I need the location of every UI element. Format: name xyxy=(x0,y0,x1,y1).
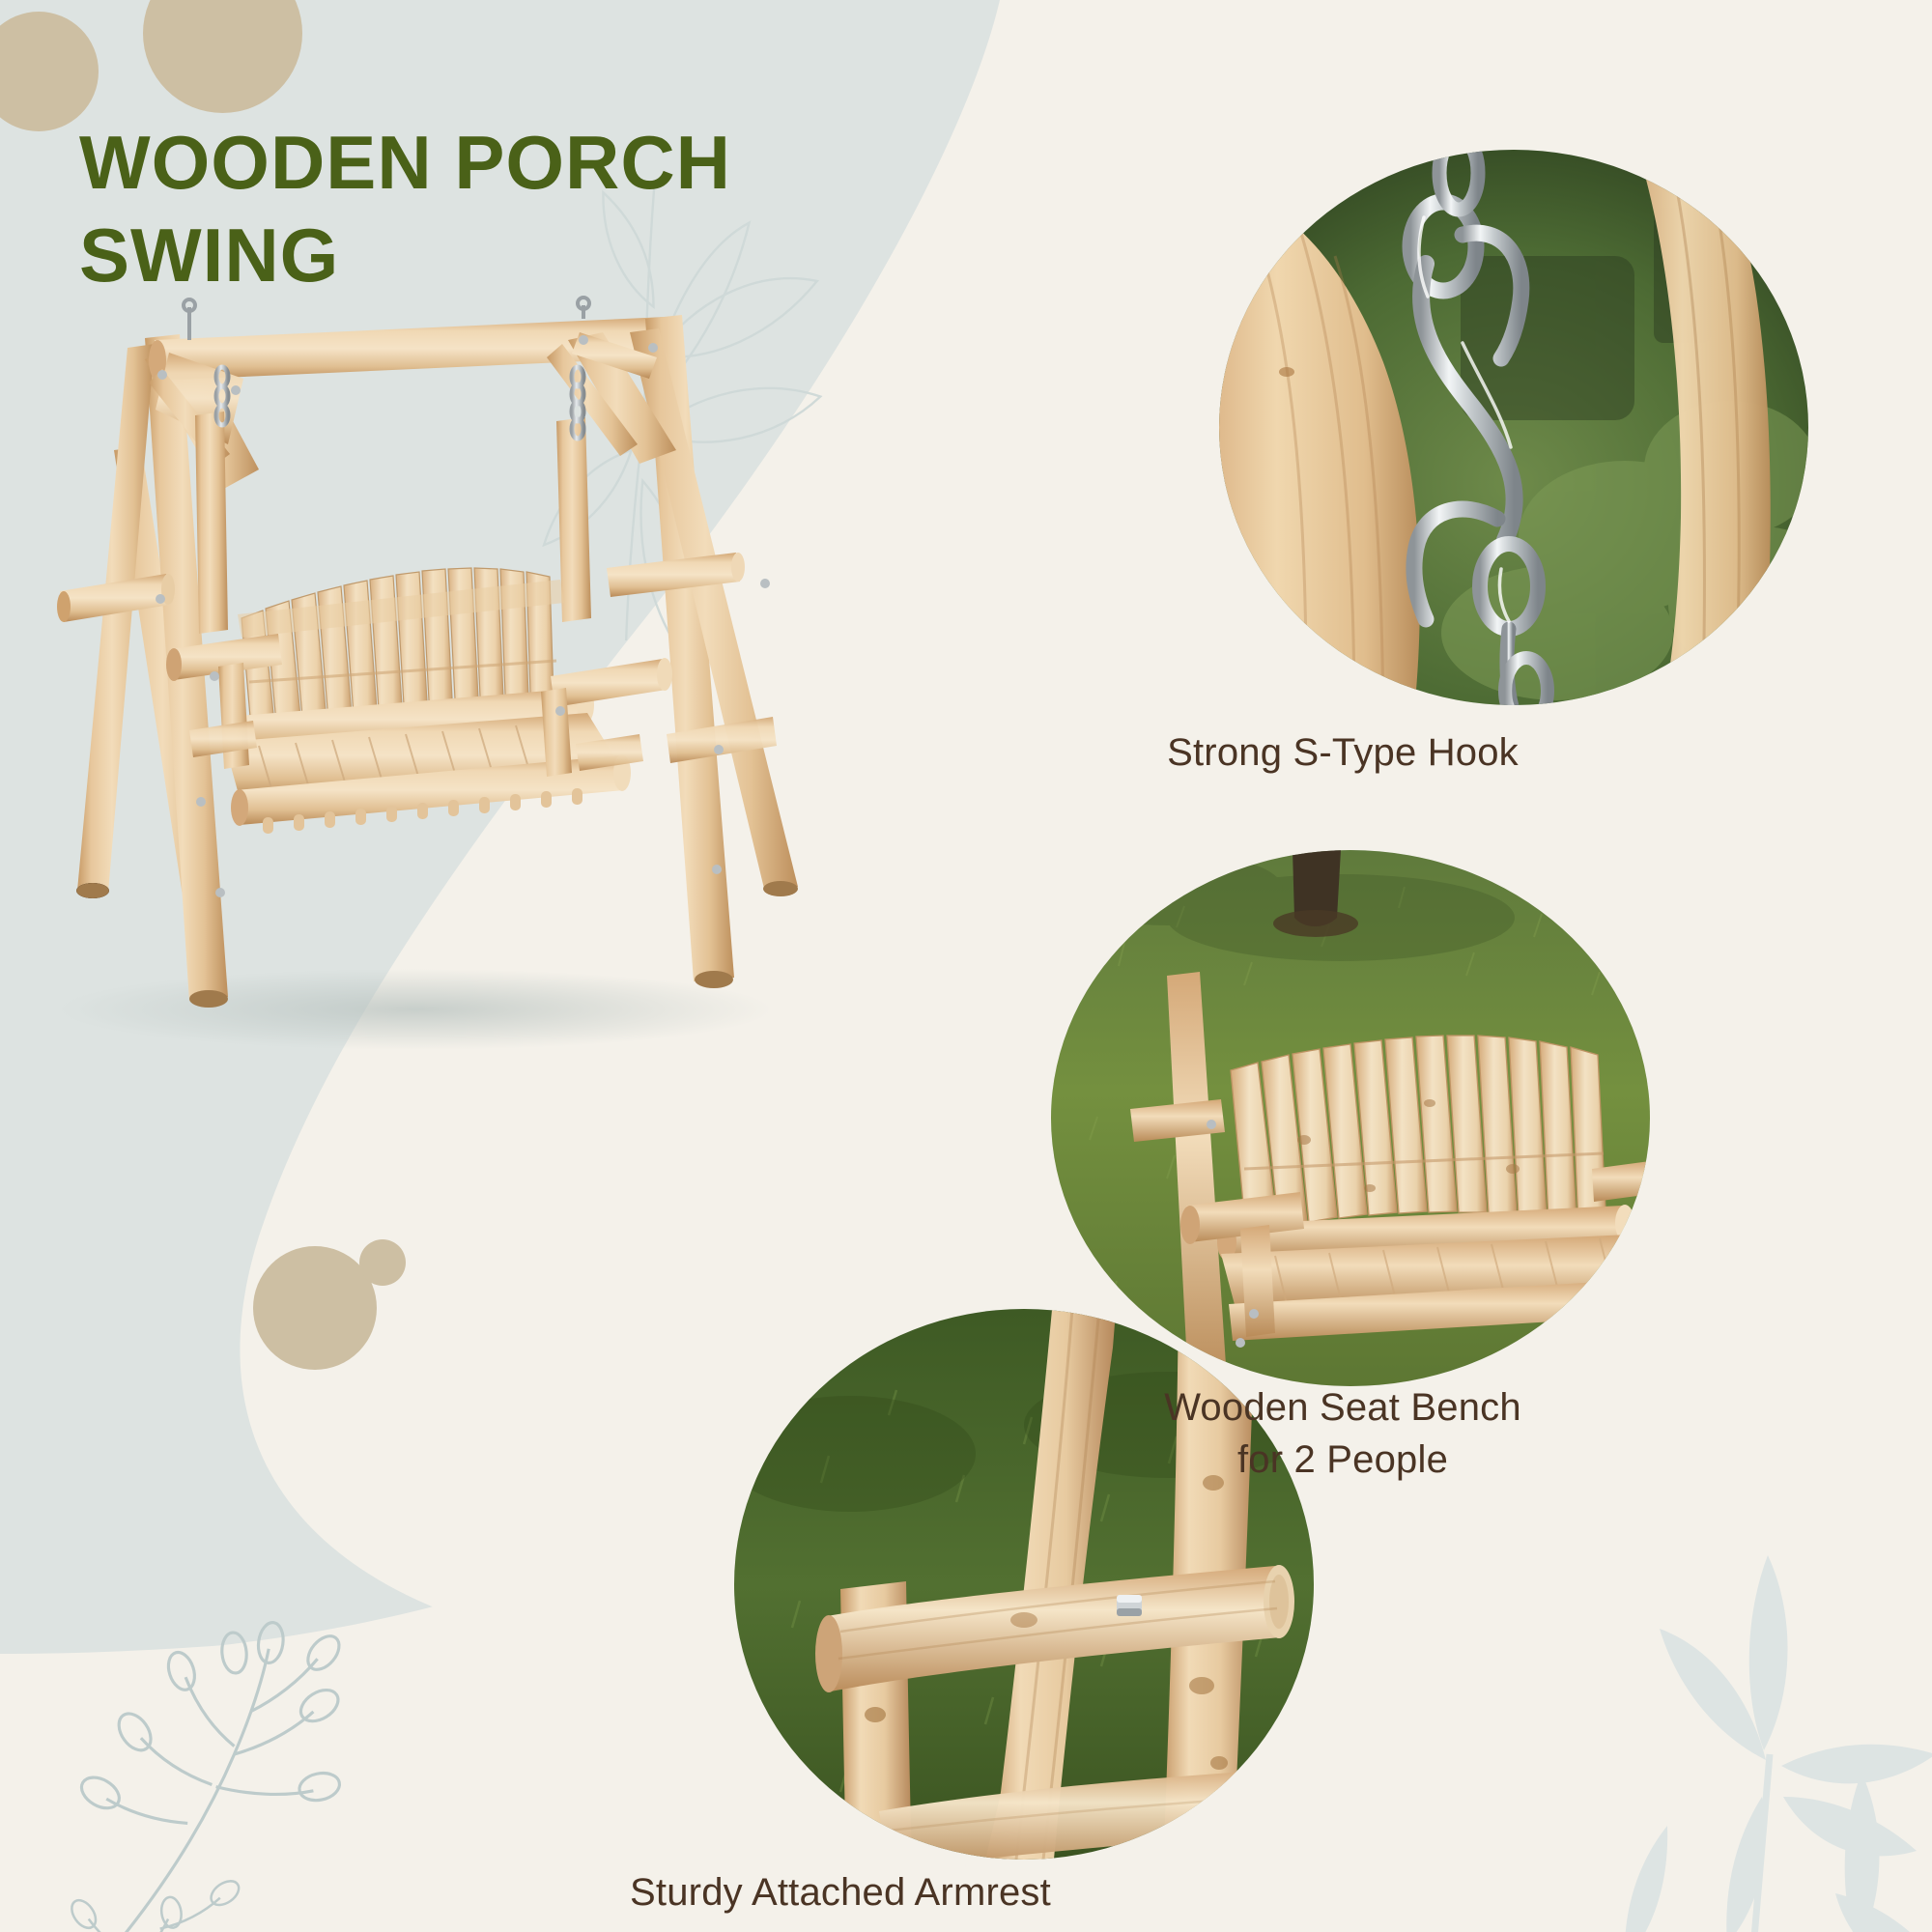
armrest-bolt xyxy=(1117,1595,1142,1616)
left-hanger-post xyxy=(195,412,228,634)
bench-seat-photo xyxy=(1051,850,1650,1386)
caption-sturdy-attached-armrest: Sturdy Attached Armrest xyxy=(502,1866,1179,1918)
right-armrest xyxy=(541,658,672,777)
caption-strong-s-type-hook: Strong S-Type Hook xyxy=(1024,726,1662,779)
caption-bench-line-1: Wooden Seat Bench xyxy=(1034,1381,1652,1434)
caption-bench-line-2: for 2 People xyxy=(1034,1434,1652,1486)
title-line-1: WOODEN PORCH xyxy=(79,116,833,209)
title-line-2: SWING xyxy=(79,209,833,301)
product-shadow xyxy=(58,969,773,1050)
caption-wooden-seat-bench: Wooden Seat Bench for 2 People xyxy=(1034,1381,1652,1486)
page-title: WOODEN PORCH SWING xyxy=(79,116,833,301)
s-hook-closeup-photo xyxy=(1219,150,1808,705)
infographic-canvas: WOODEN PORCH SWING xyxy=(0,0,1932,1932)
